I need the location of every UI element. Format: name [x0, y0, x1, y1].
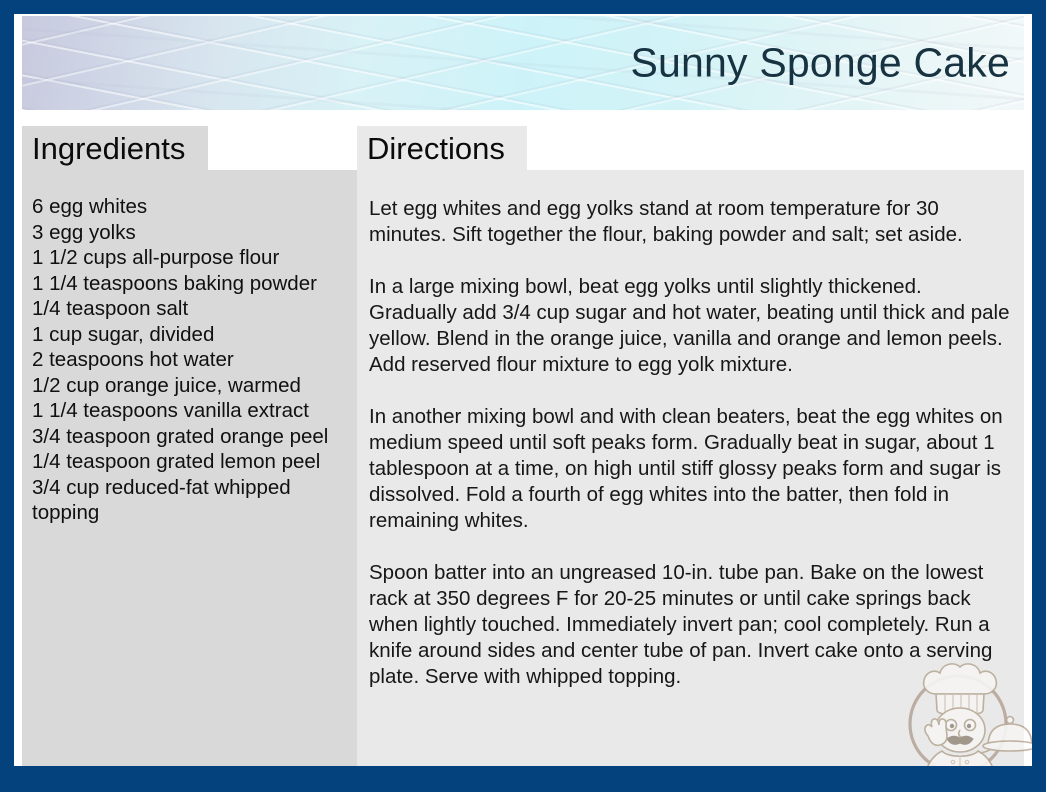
direction-paragraph: In another mixing bowl and with clean be…: [369, 404, 1012, 534]
ingredient-item: 1/2 cup orange juice, warmed: [32, 373, 350, 399]
directions-heading: Directions: [367, 133, 505, 164]
ingredient-item: 1 cup sugar, divided: [32, 322, 350, 348]
ingredient-item: 1/4 teaspoon grated lemon peel: [32, 449, 350, 475]
directions-tab: Directions: [357, 126, 527, 170]
ingredient-item: 1 1/4 teaspoons vanilla extract: [32, 398, 350, 424]
direction-paragraph: In a large mixing bowl, beat egg yolks u…: [369, 274, 1012, 378]
ingredients-tab: Ingredients: [22, 126, 208, 170]
recipe-title: Sunny Sponge Cake: [630, 41, 1010, 84]
ingredient-item: 1 1/2 cups all-purpose flour: [32, 245, 350, 271]
ingredient-item: 1/4 teaspoon salt: [32, 296, 350, 322]
ingredient-list: 6 egg whites 3 egg yolks 1 1/2 cups all-…: [32, 194, 350, 526]
ingredients-panel: Ingredients 6 egg whites 3 egg yolks 1 1…: [22, 126, 360, 766]
ingredient-item: 6 egg whites: [32, 194, 350, 220]
ingredient-item: 3 egg yolks: [32, 220, 350, 246]
directions-body: Let egg whites and egg yolks stand at ro…: [357, 170, 1024, 766]
ingredient-item: 3/4 cup reduced-fat whipped topping: [32, 475, 350, 526]
ingredient-item: 2 teaspoons hot water: [32, 347, 350, 373]
recipe-sheet: Sunny Sponge Cake: [14, 14, 1032, 766]
ingredient-item: 1 1/4 teaspoons baking powder: [32, 271, 350, 297]
directions-panel: Directions Let egg whites and egg yolks …: [357, 126, 1024, 766]
direction-paragraph: Spoon batter into an ungreased 10-in. tu…: [369, 560, 1012, 690]
title-banner: Sunny Sponge Cake: [22, 16, 1024, 110]
ingredients-heading: Ingredients: [32, 133, 185, 164]
ingredients-body: 6 egg whites 3 egg yolks 1 1/2 cups all-…: [22, 170, 360, 766]
recipe-card: Sunny Sponge Cake: [0, 0, 1046, 792]
ingredient-item: 3/4 teaspoon grated orange peel: [32, 424, 350, 450]
direction-paragraph: Let egg whites and egg yolks stand at ro…: [369, 196, 1012, 248]
